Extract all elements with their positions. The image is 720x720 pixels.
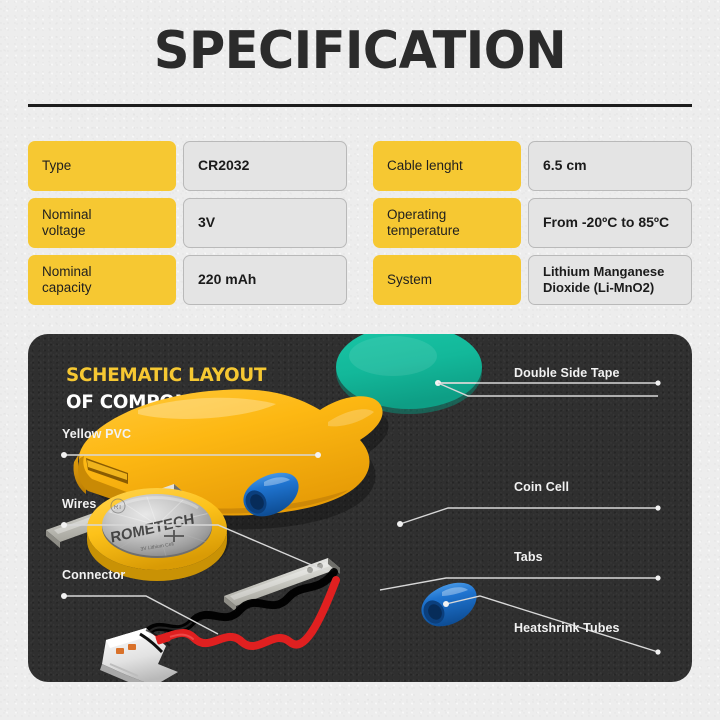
spec-label-nominal-voltage-line1: Nominal: [42, 207, 92, 222]
spec-value-operating-temperature: From -20ºC to 85ºC: [528, 198, 692, 248]
spec-label-cable-length-text: Cable lenght: [387, 158, 463, 174]
spec-value-cable-length-text: 6.5 cm: [543, 157, 587, 174]
spec-value-nominal-voltage: 3V: [183, 198, 347, 248]
spec-row-nominal-capacity: Nominal capacity 220 mAh: [28, 255, 347, 305]
callout-label-connector: Connector: [62, 568, 125, 582]
callout-label-double-side-tape: Double Side Tape: [514, 366, 620, 380]
spec-label-type-text: Type: [42, 158, 71, 174]
spec-label-nominal-capacity-line2: capacity: [42, 280, 92, 295]
spec-row-cable-length: Cable lenght 6.5 cm: [373, 141, 692, 191]
callout-label-tabs: Tabs: [514, 550, 543, 564]
page-title-wrap: SPECIFICATION: [0, 24, 720, 79]
spec-label-nominal-voltage: Nominal voltage: [28, 198, 176, 248]
spec-value-cable-length: 6.5 cm: [528, 141, 692, 191]
spec-label-nominal-capacity-line1: Nominal: [42, 264, 92, 279]
page-title: SPECIFICATION: [18, 24, 702, 79]
spec-row-operating-temperature: Operating temperature From -20ºC to 85ºC: [373, 198, 692, 248]
spec-value-nominal-capacity-text: 220 mAh: [198, 271, 256, 288]
spec-row-type: Type CR2032: [28, 141, 347, 191]
spec-row-system: System Lithium Manganese Dioxide (Li-MnO…: [373, 255, 692, 305]
spec-value-type-text: CR2032: [198, 157, 249, 174]
spec-label-nominal-voltage-line2: voltage: [42, 223, 86, 238]
spec-value-nominal-voltage-text: 3V: [198, 214, 215, 231]
callout-label-coin-cell: Coin Cell: [514, 480, 569, 494]
callout-label-wires: Wires: [62, 497, 96, 511]
schematic-panel: SCHEMATIC LAYOUT OF COMPONENTS: [28, 334, 692, 682]
title-divider: [28, 104, 692, 107]
callout-label-heatshrink-tubes: Heatshrink Tubes: [514, 621, 620, 635]
spec-value-system-line2: Dioxide (Li-MnO2): [543, 280, 654, 295]
specification-table: Type CR2032 Cable lenght 6.5 cm Nominal …: [28, 141, 692, 305]
spec-row-nominal-voltage: Nominal voltage 3V: [28, 198, 347, 248]
spec-value-type: CR2032: [183, 141, 347, 191]
spec-label-system-text: System: [387, 272, 432, 288]
spec-label-nominal-capacity: Nominal capacity: [28, 255, 176, 305]
spec-value-operating-temperature-text: From -20ºC to 85ºC: [543, 214, 669, 231]
spec-label-operating-temperature-line1: Operating: [387, 207, 446, 222]
spec-value-nominal-capacity: 220 mAh: [183, 255, 347, 305]
spec-label-type: Type: [28, 141, 176, 191]
callout-label-yellow-pvc: Yellow PVC: [62, 427, 131, 441]
spec-label-system: System: [373, 255, 521, 305]
spec-label-operating-temperature-line2: temperature: [387, 223, 460, 238]
spec-value-system: Lithium Manganese Dioxide (Li-MnO2): [528, 255, 692, 305]
spec-value-system-line1: Lithium Manganese: [543, 264, 664, 279]
spec-label-cable-length: Cable lenght: [373, 141, 521, 191]
spec-label-operating-temperature: Operating temperature: [373, 198, 521, 248]
